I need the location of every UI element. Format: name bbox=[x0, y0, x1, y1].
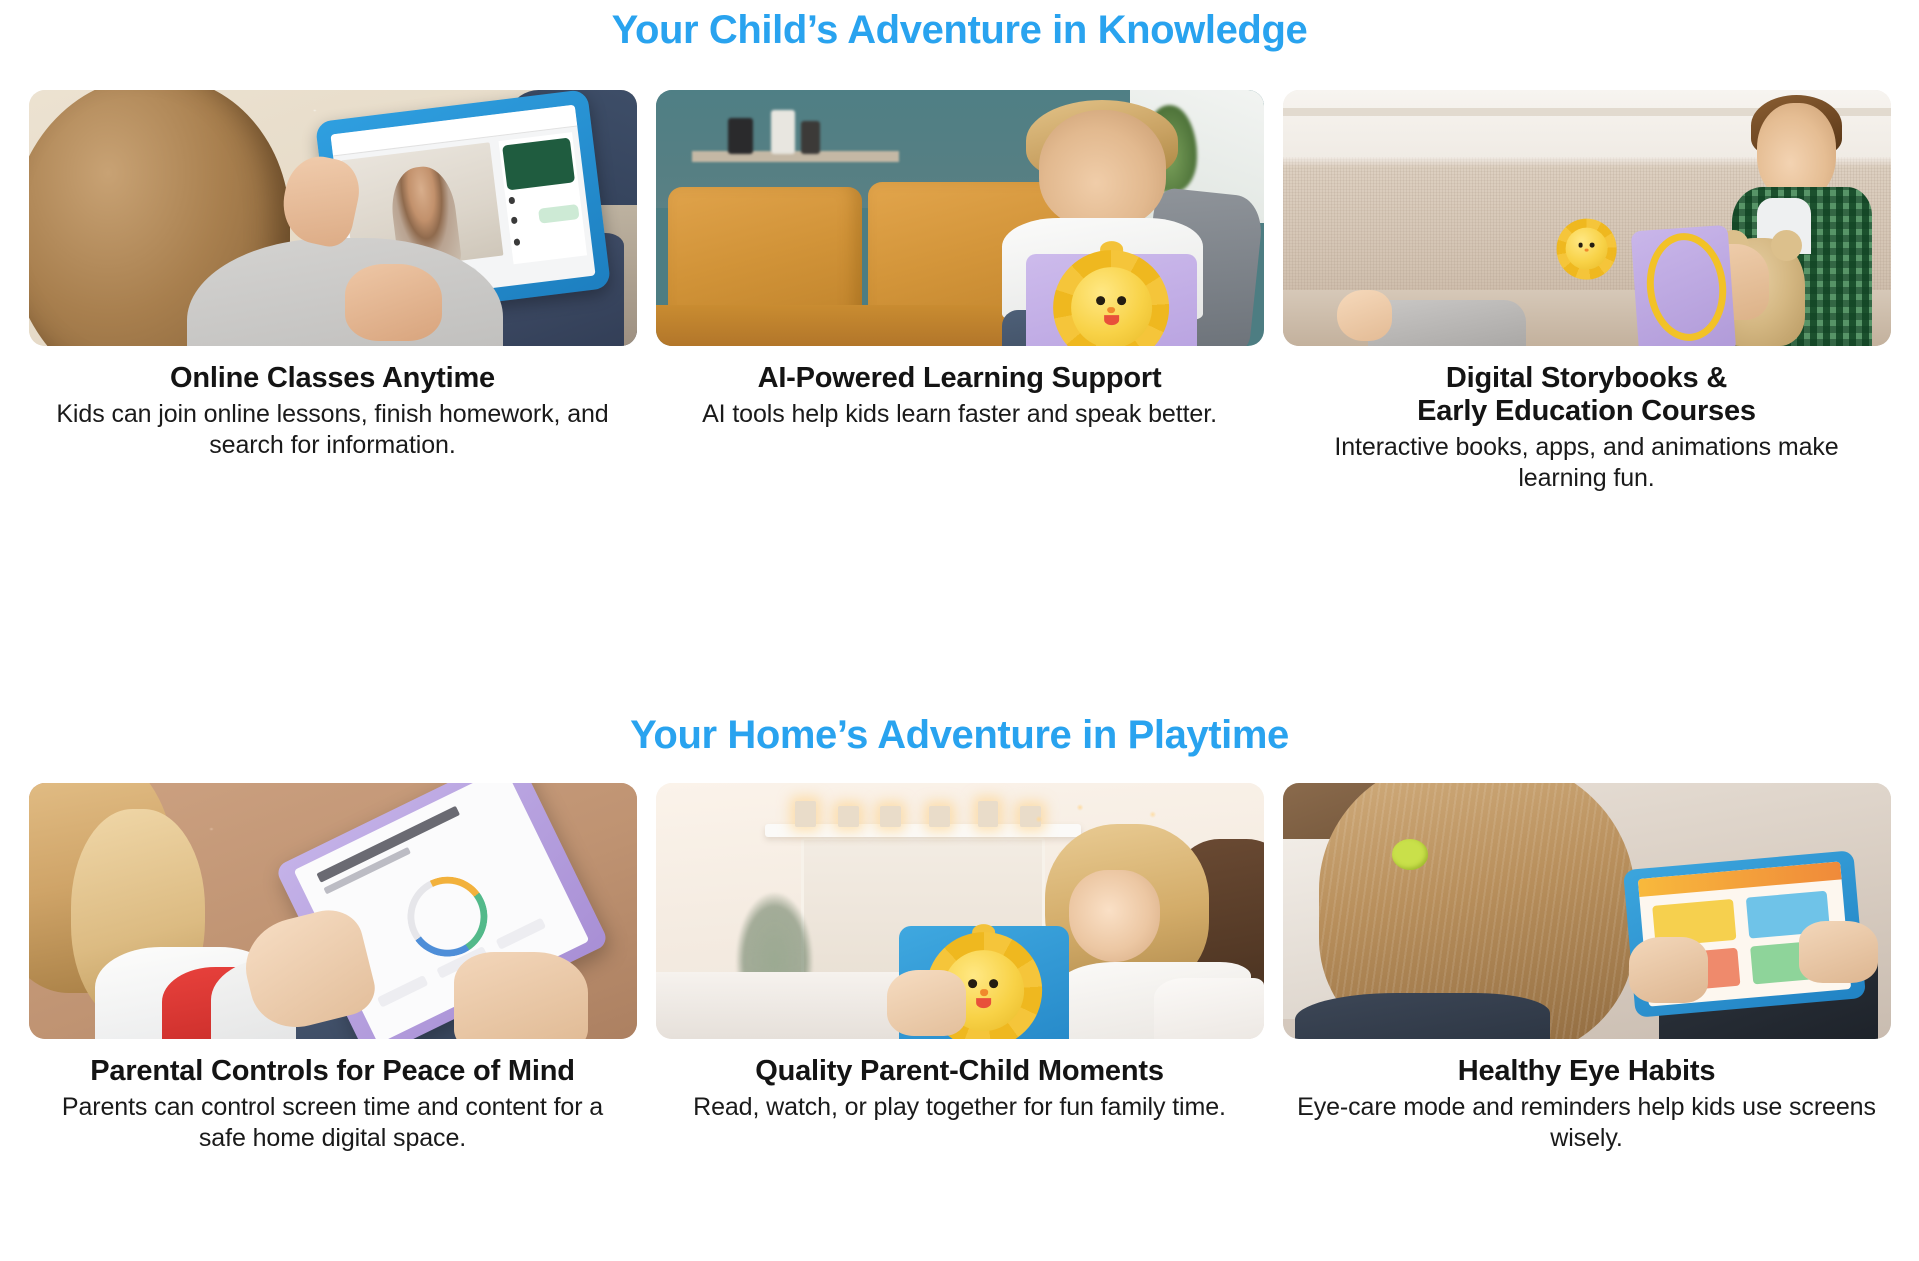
feature-card-parental-controls[interactable]: Parental Controls for Peace of Mind Pare… bbox=[29, 783, 637, 1154]
toddler-head bbox=[1039, 110, 1167, 228]
mother-arm bbox=[454, 952, 588, 1039]
chick-face bbox=[1071, 267, 1152, 346]
section-heading-playtime: Your Home’s Adventure in Playtime bbox=[0, 713, 1919, 757]
photo-parent-child-moments bbox=[656, 783, 1264, 1039]
feature-card-ai-learning[interactable]: AI-Powered Learning Support AI tools hel… bbox=[656, 90, 1264, 494]
pillow bbox=[1154, 978, 1263, 1039]
chick-eye-right bbox=[1589, 243, 1594, 248]
feature-card-parent-child-moments[interactable]: Quality Parent-Child Moments Read, watch… bbox=[656, 783, 1264, 1154]
chat-bubble-green bbox=[538, 205, 579, 225]
chat-bubble-dark bbox=[502, 138, 575, 190]
chick-eye-right bbox=[1117, 296, 1126, 305]
candle-5 bbox=[978, 801, 999, 827]
photo-digital-storybooks bbox=[1283, 90, 1891, 346]
candle-1 bbox=[795, 801, 816, 827]
card-title: Online Classes Anytime bbox=[170, 362, 495, 395]
candle-3 bbox=[880, 806, 901, 826]
feature-row-playtime: Parental Controls for Peace of Mind Pare… bbox=[0, 783, 1919, 1154]
card-description: Parents can control screen time and cont… bbox=[43, 1092, 623, 1154]
chat-avatar-1 bbox=[509, 197, 516, 204]
chick-eye-left bbox=[1578, 243, 1583, 248]
child-feet bbox=[1337, 290, 1392, 341]
candle-2 bbox=[838, 806, 859, 826]
screen-tile-1 bbox=[377, 975, 429, 1008]
feature-row-knowledge: Online Classes Anytime Kids can join onl… bbox=[0, 90, 1919, 494]
feature-card-healthy-eye-habits[interactable]: Healthy Eye Habits Eye-care mode and rem… bbox=[1283, 783, 1891, 1154]
girl-shoulder bbox=[1295, 993, 1550, 1039]
child-hand-right bbox=[345, 264, 442, 341]
chick-beak bbox=[980, 990, 988, 996]
chick-eye-left bbox=[968, 979, 977, 988]
chat-avatar-3 bbox=[514, 239, 521, 246]
chat-avatar-2 bbox=[511, 217, 518, 224]
card-title: Digital Storybooks & Early Education Cou… bbox=[1417, 362, 1756, 428]
chick-eye-left bbox=[1096, 296, 1105, 305]
chick-face bbox=[1565, 227, 1608, 270]
chick-case-graphic bbox=[1054, 250, 1170, 346]
card-description: AI tools help kids learn faster and spea… bbox=[702, 399, 1217, 430]
hand-right bbox=[1799, 921, 1878, 982]
feature-card-online-classes[interactable]: Online Classes Anytime Kids can join onl… bbox=[29, 90, 637, 494]
card-title: Quality Parent-Child Moments bbox=[755, 1055, 1164, 1088]
chick-beak bbox=[1584, 248, 1588, 251]
candle-4 bbox=[929, 806, 950, 826]
card-title: AI-Powered Learning Support bbox=[758, 362, 1162, 395]
chick-eye-right bbox=[989, 979, 998, 988]
photo-healthy-eye-habits bbox=[1283, 783, 1891, 1039]
card-title: Parental Controls for Peace of Mind bbox=[90, 1055, 574, 1088]
card-description: Interactive books, apps, and animations … bbox=[1297, 432, 1877, 494]
shelf-jar-2 bbox=[771, 110, 795, 154]
photo-online-classes bbox=[29, 90, 637, 346]
chick-case-graphic bbox=[1556, 218, 1617, 279]
chick-mouth bbox=[976, 998, 991, 1009]
card-description: Eye-care mode and reminders help kids us… bbox=[1297, 1092, 1877, 1154]
chick-beak bbox=[1107, 307, 1115, 313]
photo-ai-learning bbox=[656, 90, 1264, 346]
screen-tile-3 bbox=[495, 917, 547, 950]
card-description: Kids can join online lessons, finish hom… bbox=[43, 399, 623, 461]
shelf-jar-1 bbox=[728, 118, 752, 154]
boy-head bbox=[1757, 103, 1836, 200]
tablet-purple-case bbox=[1026, 254, 1196, 346]
feature-grid-page: Your Child’s Adventure in Knowledge bbox=[0, 0, 1919, 1261]
shelf-jar-3 bbox=[801, 121, 819, 154]
card-title: Healthy Eye Habits bbox=[1458, 1055, 1716, 1088]
section-heading-knowledge: Your Child’s Adventure in Knowledge bbox=[0, 8, 1919, 52]
chick-mouth bbox=[1104, 315, 1119, 326]
card-description: Read, watch, or play together for fun fa… bbox=[693, 1092, 1226, 1123]
hand-left bbox=[1629, 937, 1708, 1004]
feature-card-digital-storybooks[interactable]: Digital Storybooks & Early Education Cou… bbox=[1283, 90, 1891, 494]
photo-parental-controls bbox=[29, 783, 637, 1039]
mother-face bbox=[1069, 870, 1160, 962]
screen-chat-panel bbox=[499, 133, 587, 265]
shelf bbox=[692, 151, 899, 161]
hand-holding-tablet bbox=[887, 970, 966, 1037]
